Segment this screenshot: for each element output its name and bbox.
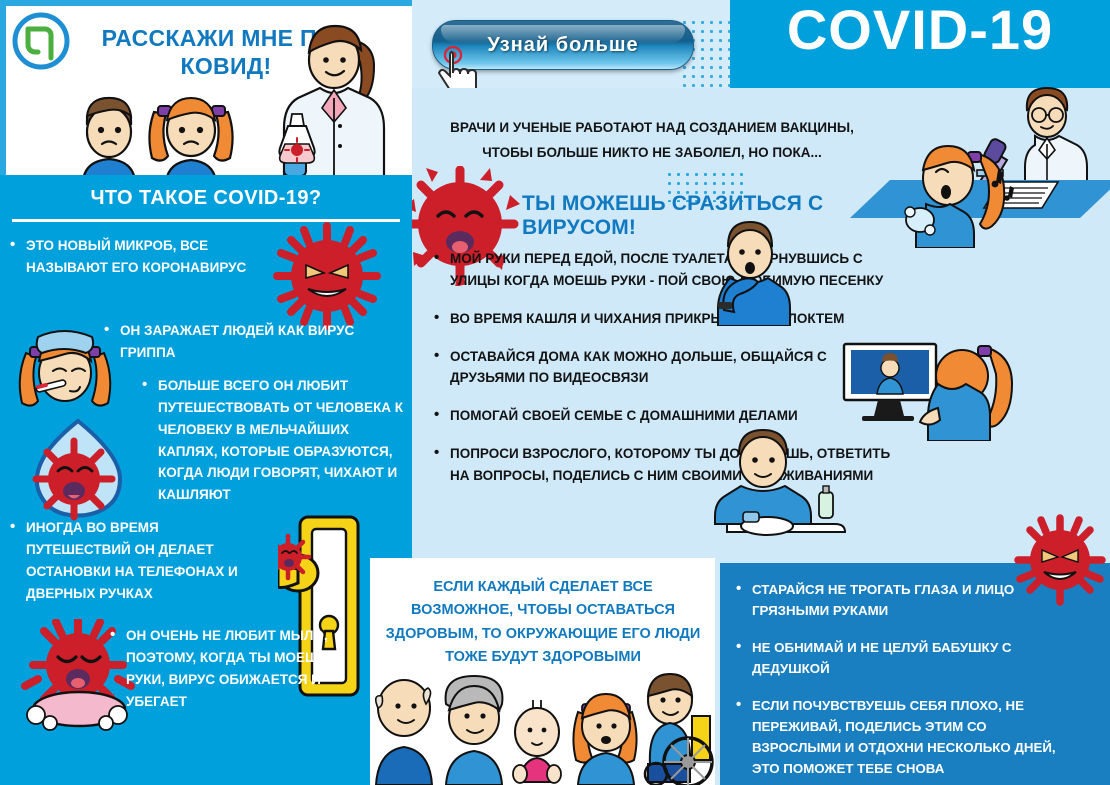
left-bullet-1: ЭТО НОВЫЙ МИКРОБ, ВСЕ НАЗЫВАЮТ ЕГО КОРОН… [10, 235, 260, 295]
center-panel: ВРАЧИ И УЧЕНЫЕ РАБОТАЮТ НАД СОЗДАНИЕМ ВА… [412, 88, 1110, 558]
page-title: COVID-19 [730, 2, 1110, 58]
left-panel-heading: ЧТО ТАКОЕ COVID-19? [0, 187, 412, 210]
illustration-droplet-virus [22, 415, 132, 525]
header-left-panel: РАССКАЖИ МНЕ ПРО КОВИД! [0, 0, 412, 175]
left-bullet-5: ОН ОЧЕНЬ НЕ ЛЮБИТ МЫЛО, ПОЭТОМУ, КОГДА Т… [110, 625, 360, 728]
learn-more-label: Узнай больше [487, 34, 638, 57]
header-button-panel: Узнай больше [412, 0, 730, 88]
left-bullet-4: ИНОГДА ВО ВРЕМЯ ПУТЕШЕСТВИЙ ОН ДЕЛАЕТ ОС… [10, 517, 260, 620]
hero-title: РАССКАЖИ МНЕ ПРО КОВИД! [66, 24, 386, 80]
left-bullet-2: ОН ЗАРАЖАЕТ ЛЮДЕЙ КАК ВИРУС ГРИППА [104, 320, 404, 380]
illustration-worried-girl [136, 88, 246, 181]
center-bullet-item: МОЙ РУКИ ПЕРЕД ЕДОЙ, ПОСЛЕ ТУАЛЕТА И ВЕР… [434, 248, 904, 292]
illustration-worried-boy [61, 86, 157, 181]
logo-cgon-icon [12, 12, 70, 70]
heading-rule [12, 219, 400, 222]
center-bullet-item: ОСТАВАЙСЯ ДОМА КАК МОЖНО ДОЛЬШЕ, ОБЩАЙСЯ… [434, 346, 904, 390]
left-bullet-item: ЭТО НОВЫЙ МИКРОБ, ВСЕ НАЗЫВАЮТ ЕГО КОРОН… [10, 235, 260, 279]
vaccine-note-line1: ВРАЧИ И УЧЕНЫЕ РАБОТАЮТ НАД СОЗДАНИЕМ ВА… [432, 116, 872, 141]
left-bullet-item: БОЛЬШЕ ВСЕГО ОН ЛЮБИТ ПУТЕШЕСТВОВАТЬ ОТ … [142, 375, 404, 506]
center-bullet-item: ПОПРОСИ ВЗРОСЛОГО, КОТОРОМУ ТЫ ДОВЕРЯЕШЬ… [434, 443, 904, 487]
left-bullet-3: БОЛЬШЕ ВСЕГО ОН ЛЮБИТ ПУТЕШЕСТВОВАТЬ ОТ … [142, 375, 404, 522]
illustration-scientist-microscope [957, 84, 1107, 196]
left-panel: ЧТО ТАКОЕ COVID-19? ЭТО НОВЫЙ МИКРОБ, ВС… [0, 175, 412, 785]
closing-message: ЕСЛИ КАЖДЫЙ СДЕЛАЕТ ВСЕ ВОЗМОЖНОЕ, ЧТОБЫ… [382, 576, 704, 670]
bottom-right-bullet-item: НЕ ОБНИМАЙ И НЕ ЦЕЛУЙ БАБУШКУ С ДЕДУШКОЙ [736, 637, 1066, 679]
vaccine-note-line2: ЧТОБЫ БОЛЬШЕ НИКТО НЕ ЗАБОЛЕЛ, НО ПОКА..… [432, 141, 872, 166]
bottom-right-bullet-item: ЕСЛИ ПОЧУВСТВУЕШЬ СЕБЯ ПЛОХО, НЕ ПЕРЕЖИВ… [736, 695, 1066, 785]
center-bullet-item: ВО ВРЕМЯ КАШЛЯ И ЧИХАНИЯ ПРИКРЫВАЙ РОТ Л… [434, 308, 904, 330]
illustration-angry-virus [272, 221, 382, 331]
vaccine-note: ВРАЧИ И УЧЕНЫЕ РАБОТАЮТ НАД СОЗДАНИЕМ ВА… [432, 116, 872, 166]
bottom-right-panel: СТАРАЙСЯ НЕ ТРОГАТЬ ГЛАЗА И ЛИЦО ГРЯЗНЫМ… [715, 558, 1110, 785]
left-bullet-item: ИНОГДА ВО ВРЕМЯ ПУТЕШЕСТВИЙ ОН ДЕЛАЕТ ОС… [10, 517, 260, 604]
center-bullet-item: ПОМОГАЙ СВОЕЙ СЕМЬЕ С ДОМАШНИМИ ДЕЛАМИ [434, 405, 904, 427]
infographic-poster: РАССКАЖИ МНЕ ПРО КОВИД! [0, 0, 1110, 785]
covid-title-panel: COVID-19 [730, 0, 1110, 88]
left-bullet-item: ОН ОЧЕНЬ НЕ ЛЮБИТ МЫЛО, ПОЭТОМУ, КОГДА Т… [110, 625, 360, 712]
center-heading: ТЫ МОЖЕШЬ СРАЗИТЬСЯ С ВИРУСОМ! [522, 192, 942, 240]
left-bullet-item: ОН ЗАРАЖАЕТ ЛЮДЕЙ КАК ВИРУС ГРИППА [104, 320, 404, 364]
bottom-right-bullet-item: СТАРАЙСЯ НЕ ТРОГАТЬ ГЛАЗА И ЛИЦО ГРЯЗНЫМ… [736, 579, 1066, 621]
bottom-center-panel: ЕСЛИ КАЖДЫЙ СДЕЛАЕТ ВСЕ ВОЗМОЖНОЕ, ЧТОБЫ… [370, 558, 715, 785]
center-bullet-list: МОЙ РУКИ ПЕРЕД ЕДОЙ, ПОСЛЕ ТУАЛЕТА И ВЕР… [434, 248, 904, 503]
bottom-right-bullet-list: СТАРАЙСЯ НЕ ТРОГАТЬ ГЛАЗА И ЛИЦО ГРЯЗНЫМ… [736, 579, 1066, 785]
illustration-people-group [370, 670, 715, 785]
